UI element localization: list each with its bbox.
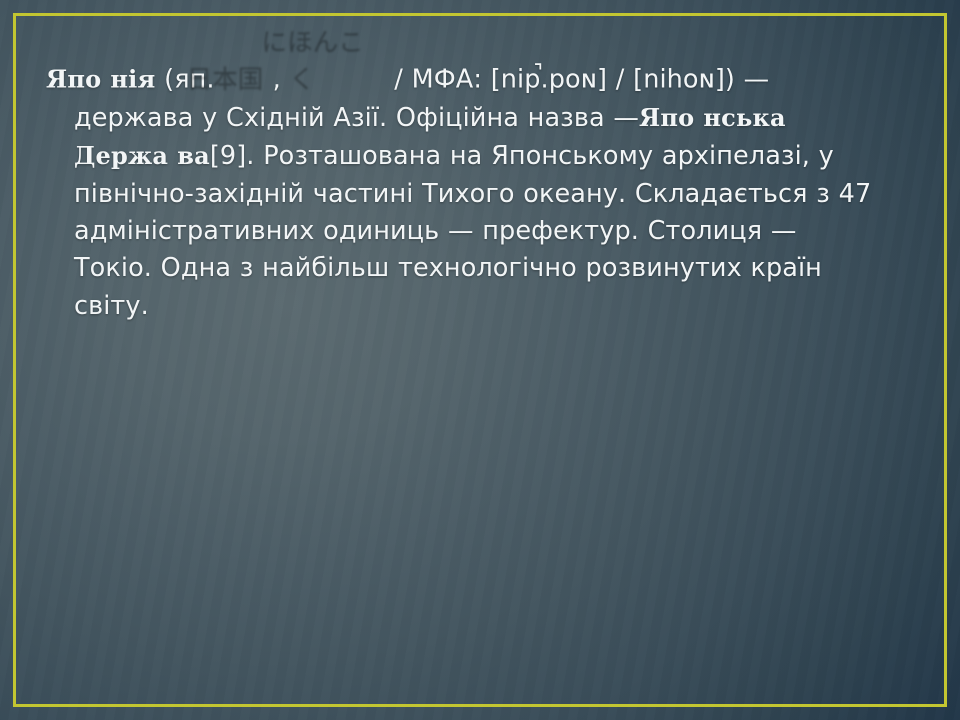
slash-separator-2: / xyxy=(607,64,633,94)
paragraph-japan-description: Япо нія (яп.日本国, にほんこく / МФА: [nip̚.poɴ]… xyxy=(46,24,876,325)
ipa-label: МФА: xyxy=(412,64,491,94)
reference-marker-9: [9] xyxy=(210,141,246,171)
japanese-kana-glyphs: にほんこく xyxy=(290,24,386,99)
headword-japan: Япо нія xyxy=(46,64,155,93)
ipa-transcription-nihon: [nihoɴ]) xyxy=(633,64,735,94)
slash-separator-1: / xyxy=(386,64,412,94)
open-paren: ( xyxy=(155,64,174,94)
comma-separator: , xyxy=(273,64,290,94)
ipa-transcription-nippon: [nip̚.poɴ] xyxy=(491,64,607,94)
japanese-kanji-glyphs: 日本国 xyxy=(215,61,273,98)
slide-canvas: Япо нія (яп.日本国, にほんこく / МФА: [nip̚.poɴ]… xyxy=(0,0,960,720)
slide-body-text-box[interactable]: Япо нія (яп.日本国, にほんこく / МФА: [nip̚.poɴ]… xyxy=(46,24,876,325)
